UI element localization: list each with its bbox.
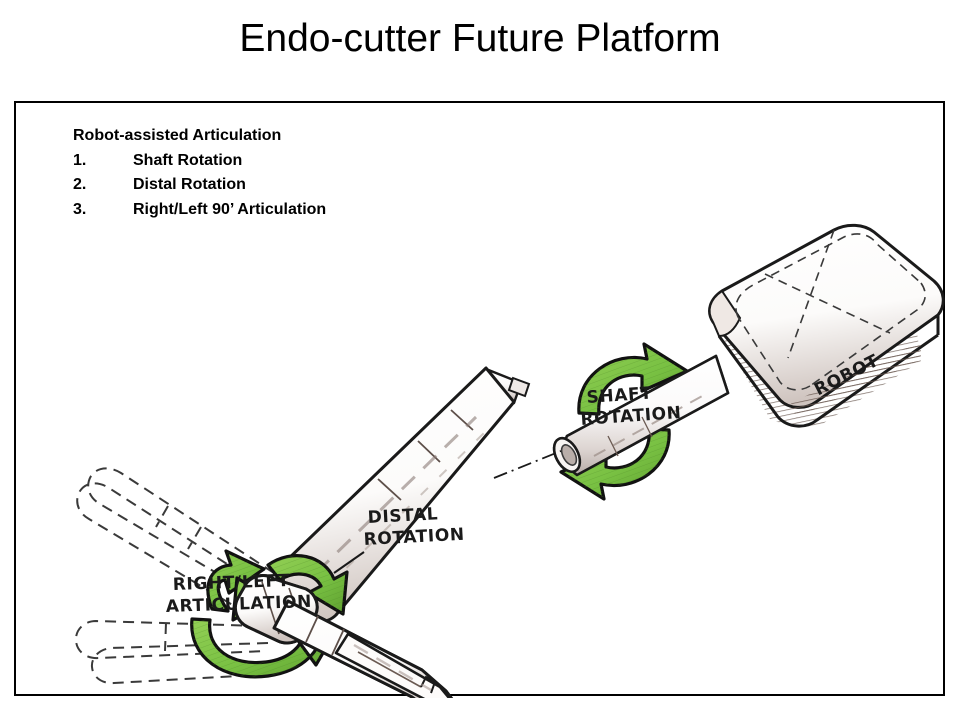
list-item-label: Right/Left 90’ Articulation xyxy=(133,198,493,223)
list-item: 1. Shaft Rotation xyxy=(73,149,493,174)
robot-shaft xyxy=(549,356,728,476)
articulation-label-line2: ARTICULATION xyxy=(165,592,312,617)
list-item-label: Shaft Rotation xyxy=(133,149,493,174)
bullet-list: Robot-assisted Articulation 1. Shaft Rot… xyxy=(73,124,493,222)
distal-rotation-label-line1: DISTAL xyxy=(367,504,438,528)
shaft-rotation-label-line2: ROTATION xyxy=(580,403,682,430)
ghost-jaw-lower xyxy=(76,621,274,683)
list-item-number: 3. xyxy=(73,198,133,223)
articulation-label: RIGHT/LEFT ARTICULATION xyxy=(165,571,312,617)
robot-label: ROBOT xyxy=(811,351,882,400)
distal-rotation-arrow xyxy=(233,556,347,637)
shaft-rotation-label: SHAFT ROTATION xyxy=(580,383,682,430)
articulation-label-line1: RIGHT/LEFT xyxy=(172,571,290,595)
ghost-jaw-upper xyxy=(77,468,274,619)
robot-shaft-front xyxy=(549,356,728,476)
distal-rotation-label-line2: ROTATION xyxy=(363,525,465,550)
page-title: Endo-cutter Future Platform xyxy=(0,16,960,62)
list-item: 3. Right/Left 90’ Articulation xyxy=(73,198,493,223)
distal-shaft xyxy=(274,601,461,698)
list-item-label: Distal Rotation xyxy=(133,173,493,198)
distal-rotation-leader xyxy=(334,552,364,573)
distal-rotation-label: DISTAL ROTATION xyxy=(363,504,465,550)
list-item-number: 1. xyxy=(73,149,133,174)
bullet-heading: Robot-assisted Articulation xyxy=(73,124,493,149)
endocutter-instrument xyxy=(277,368,530,622)
articulation-joint xyxy=(235,576,317,643)
list-item-number: 2. xyxy=(73,173,133,198)
list-item: 2. Distal Rotation xyxy=(73,173,493,198)
slide-canvas: Endo-cutter Future Platform Robot-assist… xyxy=(0,0,960,720)
articulation-joint-front xyxy=(235,576,461,698)
shaft-rotation-label-line1: SHAFT xyxy=(586,383,653,408)
shaft-rotation-arrow xyxy=(561,344,687,499)
robot-housing: ROBOT xyxy=(710,225,944,428)
articulation-arrow xyxy=(192,551,338,677)
content-frame: Robot-assisted Articulation 1. Shaft Rot… xyxy=(14,101,945,696)
connection-centerline xyxy=(494,451,561,478)
